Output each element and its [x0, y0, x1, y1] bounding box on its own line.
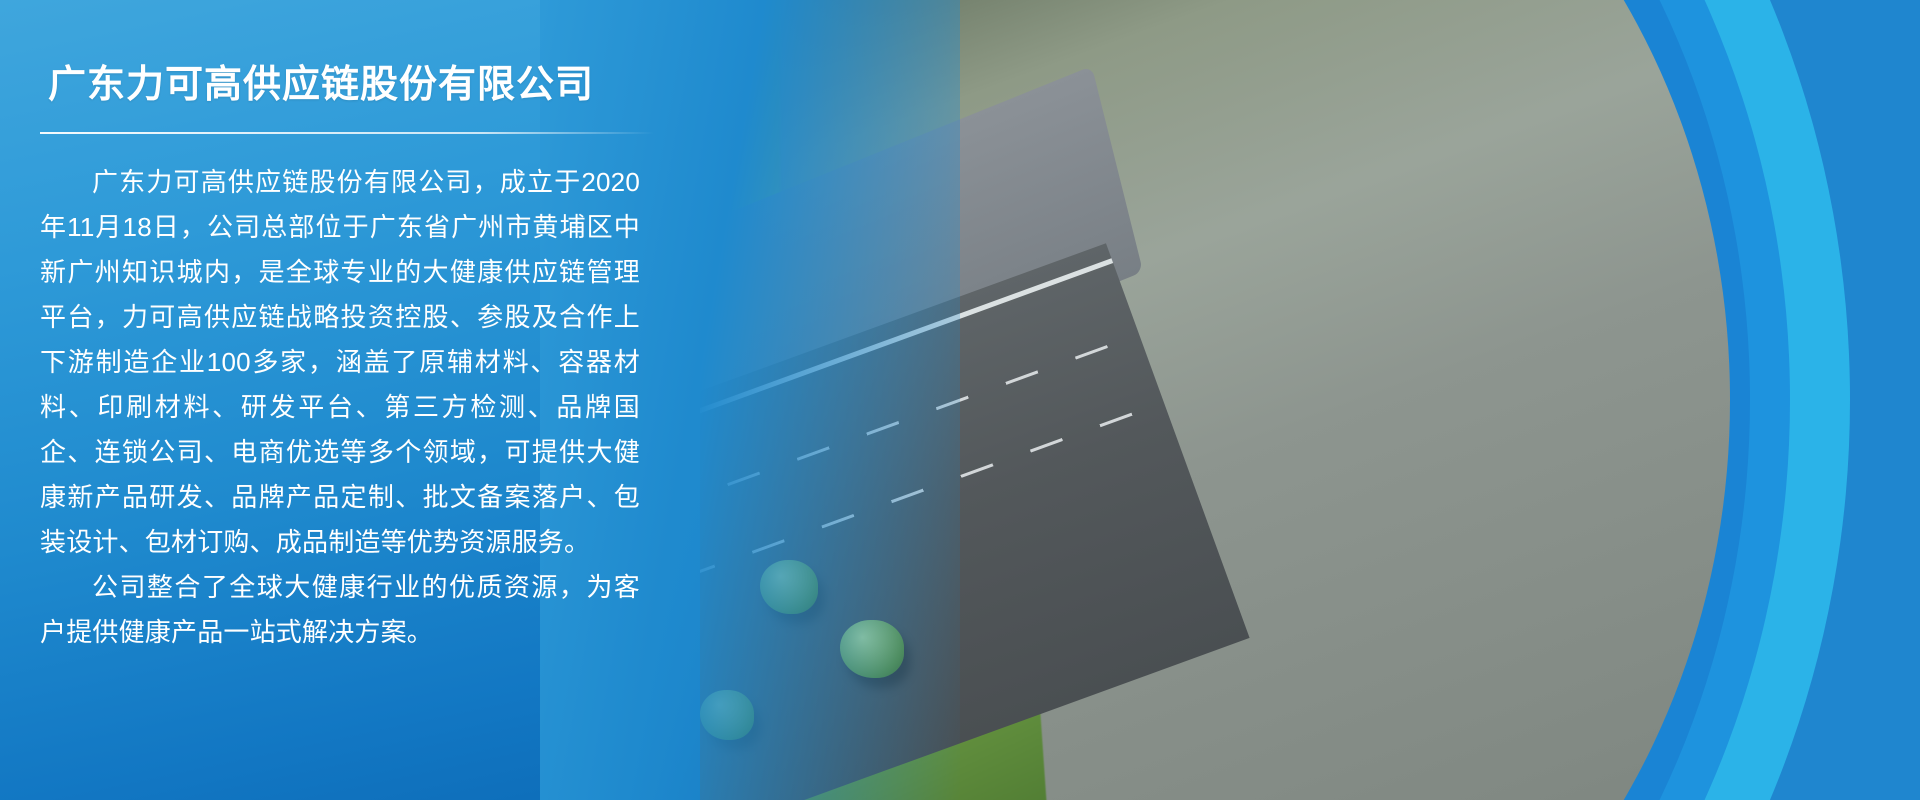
title-divider [40, 132, 654, 134]
company-description: 广东力可高供应链股份有限公司，成立于2020年11月18日，公司总部位于广东省广… [40, 160, 640, 655]
company-profile-banner: 广东力可高供应链股份有限公司 广东力可高供应链股份有限公司，成立于2020年11… [0, 0, 1920, 800]
intro-content: 广东力可高供应链股份有限公司 广东力可高供应链股份有限公司，成立于2020年11… [0, 0, 660, 800]
paragraph-solution: 公司整合了全球大健康行业的优质资源，为客户提供健康产品一站式解决方案。 [40, 565, 640, 655]
paragraph-overview: 广东力可高供应链股份有限公司，成立于2020年11月18日，公司总部位于广东省广… [40, 160, 640, 565]
page-title: 广东力可高供应链股份有限公司 [48, 62, 624, 110]
